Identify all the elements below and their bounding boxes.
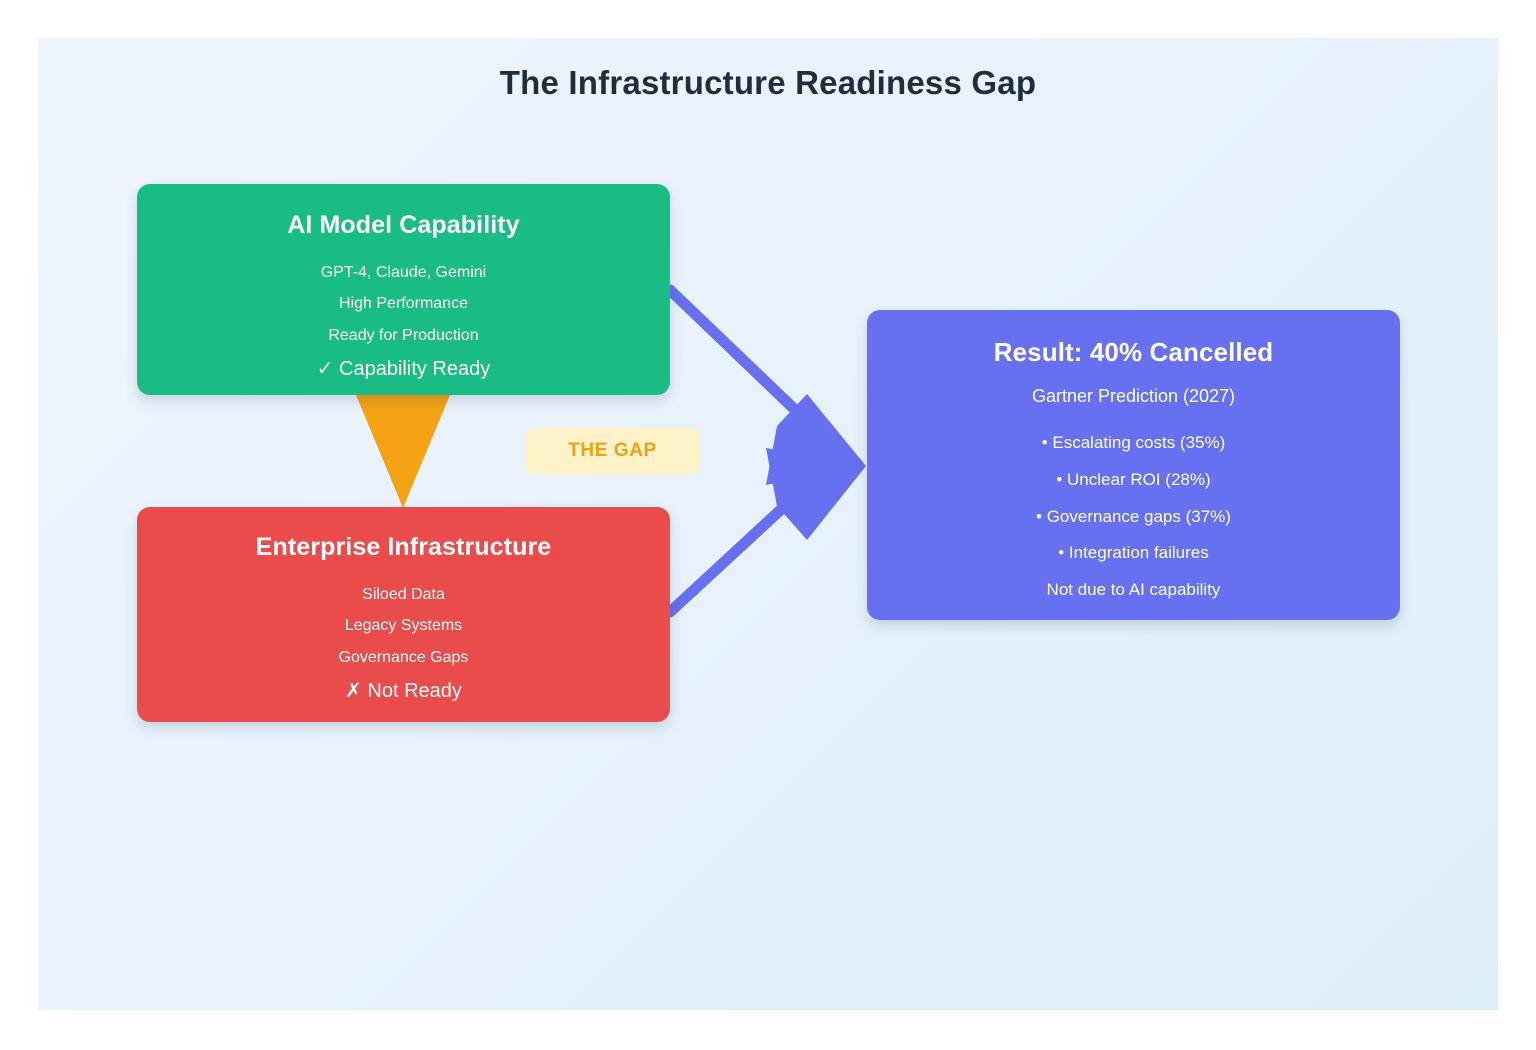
node-infrastructure-line-1: Legacy Systems [137,617,670,635]
node-result-footnote: Not due to AI capability [867,581,1400,600]
node-infrastructure-line-0: Siloed Data [137,586,670,604]
gap-badge: THE GAP [525,428,700,474]
diagram-canvas: The Infrastructure Readiness Gap AI Mode… [0,0,1536,1050]
page-title: The Infrastructure Readiness Gap [38,64,1498,102]
diagram-panel: The Infrastructure Readiness Gap AI Mode… [38,38,1498,1010]
node-result-bullet-1: • Unclear ROI (28%) [867,471,1400,490]
flow-arrow-infrastructure-to-result [670,448,866,612]
node-infrastructure-title: Enterprise Infrastructure [137,534,670,562]
node-result-cancelled[interactable]: Result: 40% Cancelled Gartner Prediction… [867,310,1400,620]
node-infrastructure-status: ✗ Not Ready [137,680,670,702]
node-infrastructure-line-2: Governance Gaps [137,649,670,667]
node-capability-title: AI Model Capability [137,212,670,240]
node-capability-line-0: GPT-4, Claude, Gemini [137,264,670,282]
gap-arrow [356,393,450,508]
node-enterprise-infrastructure[interactable]: Enterprise Infrastructure Siloed Data Le… [137,507,670,722]
node-ai-model-capability[interactable]: AI Model Capability GPT-4, Claude, Gemin… [137,184,670,395]
node-capability-line-1: High Performance [137,295,670,313]
node-result-title: Result: 40% Cancelled [867,338,1400,367]
node-result-bullet-2: • Governance gaps (37%) [867,508,1400,527]
node-capability-line-2: Ready for Production [137,327,670,345]
node-result-bullet-3: • Integration failures [867,544,1400,563]
node-result-bullet-0: • Escalating costs (35%) [867,434,1400,453]
node-capability-status: ✓ Capability Ready [137,358,670,380]
node-result-subtitle: Gartner Prediction (2027) [867,387,1400,407]
